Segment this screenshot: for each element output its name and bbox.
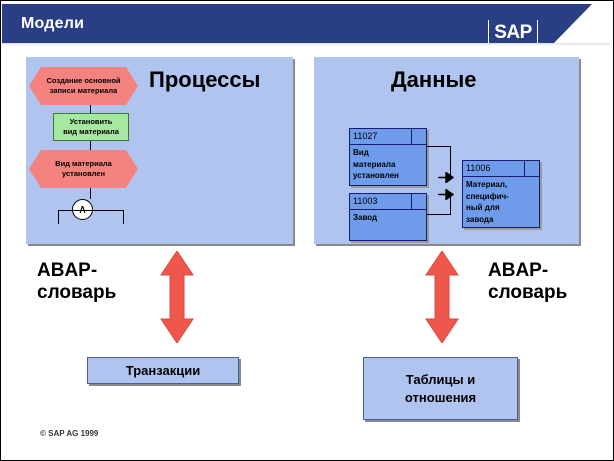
epc-event-end: Вид материалаустановлен — [29, 150, 138, 188]
erm-entity-11027-header-divider — [411, 129, 412, 144]
crowsfoot-icon — [438, 172, 454, 183]
epc-function-set-material-type: Установитьвид материала — [53, 113, 129, 141]
abap-dictionary-arrow-left — [159, 251, 195, 343]
processes-panel-title: Процессы — [149, 67, 260, 93]
abap-dictionary-label-left: ABAP-словарь — [37, 260, 116, 305]
erm-entity-11027-id: 11027 — [350, 132, 377, 141]
crowsfoot-icon — [438, 189, 454, 200]
epc-connector-2 — [90, 141, 91, 150]
epc-junction-symbol: ∧ — [78, 203, 87, 215]
erm-entity-11003: 11003 Завод — [349, 193, 427, 241]
erm-entity-11006: 11006 Материал,специфич-ный длязавода — [462, 160, 540, 228]
erm-entity-11006-id: 11006 — [463, 164, 490, 173]
erm-entity-11003-id: 11003 — [350, 197, 377, 206]
epc-event-start-label: Создание основнойзаписи материала — [46, 76, 120, 96]
erm-entity-11003-name: Завод — [350, 210, 426, 224]
sap-logo: SAP — [491, 20, 535, 44]
tables-and-relations-box-label: Таблицы иотношения — [405, 371, 476, 406]
erm-entity-11027: 11027 Видматериалаустановлен — [349, 128, 427, 186]
erm-relation-1-segment-h — [427, 146, 451, 147]
epc-branch-bus — [58, 210, 124, 211]
erm-entity-11006-header-divider — [524, 161, 525, 176]
erm-entity-11006-header: 11006 — [463, 161, 539, 177]
sap-logo-text: SAP — [494, 23, 532, 42]
copyright-footer: © SAP AG 1999 — [40, 429, 98, 438]
abap-dictionary-label-right: ABAP-словарь — [488, 260, 567, 305]
epc-connector-1 — [90, 105, 91, 113]
erm-entity-11006-name: Материал,специфич-ный длязавода — [463, 177, 539, 225]
erm-entity-11003-header: 11003 — [350, 194, 426, 210]
epc-function-label: Установитьвид материала — [63, 117, 119, 137]
transactions-box-label: Транзакции — [126, 362, 200, 380]
slide-header-bar: Модели SAP — [2, 4, 610, 43]
epc-branch-left-leg — [58, 210, 59, 224]
data-panel-title: Данные — [391, 67, 477, 93]
erm-entity-11003-header-divider — [411, 194, 412, 209]
epc-event-start: Создание основнойзаписи материала — [29, 67, 138, 105]
transactions-box: Транзакции — [87, 357, 239, 384]
epc-branch-right-leg — [123, 210, 124, 224]
header-diagonal-wedge — [554, 4, 610, 43]
abap-dictionary-arrow-right — [424, 251, 460, 343]
page-title: Модели — [21, 15, 84, 33]
erm-relation-2-segment-h — [427, 214, 451, 215]
epc-connector-3 — [90, 188, 91, 199]
erm-entity-11027-name: Видматериалаустановлен — [350, 145, 426, 182]
epc-event-end-label: Вид материалаустановлен — [55, 159, 112, 179]
erm-entity-11027-header: 11027 — [350, 129, 426, 145]
slide-canvas: Модели SAP Процессы Создание основнойзап… — [0, 0, 614, 461]
header-shadow — [2, 43, 610, 46]
tables-and-relations-box: Таблицы иотношения — [363, 357, 518, 420]
